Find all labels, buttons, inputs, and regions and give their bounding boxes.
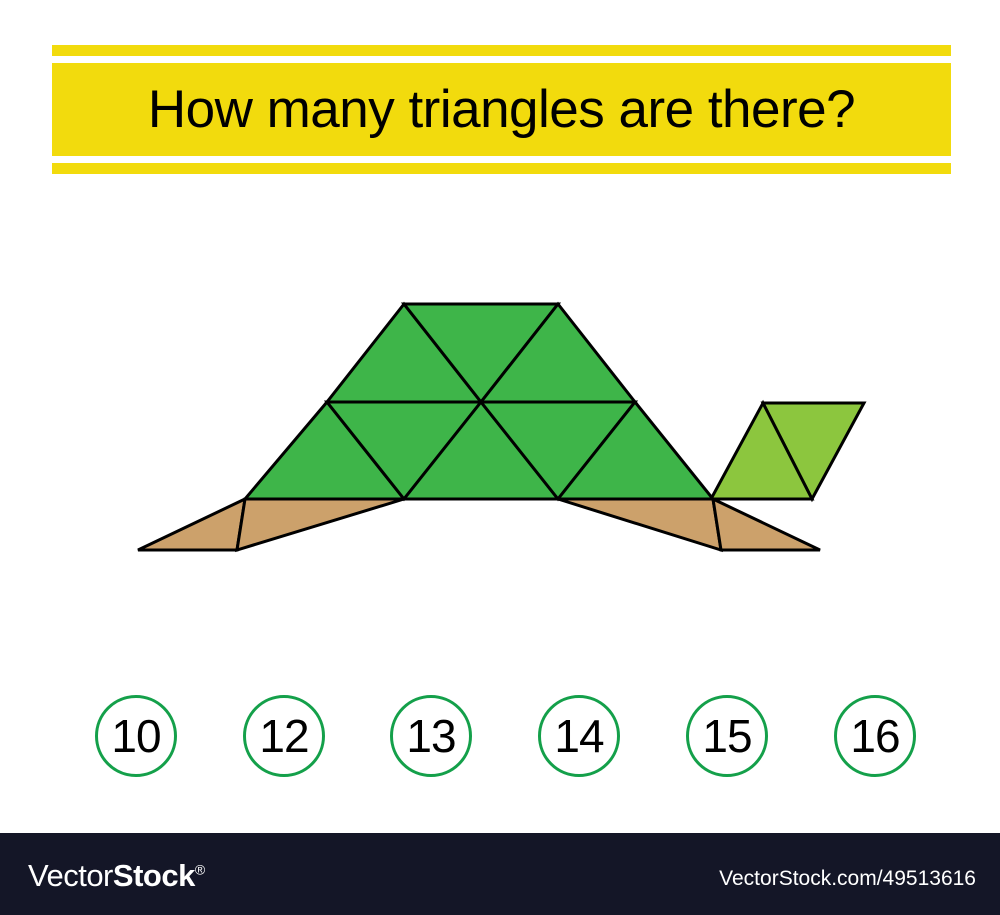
turtle-diagram-svg — [0, 230, 1000, 650]
logo-text-stock: Stock — [113, 858, 195, 893]
turtle-figure — [0, 230, 1000, 650]
banner-main-bar: How many triangles are there? — [52, 63, 951, 156]
right-flipper-inner-triangle — [558, 499, 721, 550]
answer-option-label: 16 — [850, 713, 899, 759]
watermark-url: VectorStock.com/49513616 — [719, 867, 976, 891]
page-title: How many triangles are there? — [148, 83, 855, 136]
registered-trademark-icon: ® — [195, 862, 205, 878]
answer-option-14[interactable]: 14 — [538, 695, 620, 777]
left-flipper-inner-triangle — [237, 499, 404, 550]
logo-text-vector: Vector — [28, 858, 113, 893]
question-banner: How many triangles are there? — [0, 0, 1000, 185]
answer-option-label: 13 — [406, 713, 455, 759]
right-flipper-outer-triangle — [713, 499, 820, 550]
left-flipper-outer-triangle — [138, 499, 245, 550]
answer-option-label: 12 — [259, 713, 308, 759]
banner-stripe-bottom — [52, 163, 951, 174]
answer-option-13[interactable]: 13 — [390, 695, 472, 777]
answer-option-label: 14 — [554, 713, 603, 759]
answer-options-row: 10 12 13 14 15 16 — [0, 695, 1000, 780]
answer-option-15[interactable]: 15 — [686, 695, 768, 777]
answer-option-10[interactable]: 10 — [95, 695, 177, 777]
answer-option-16[interactable]: 16 — [834, 695, 916, 777]
answer-option-label: 10 — [111, 713, 160, 759]
answer-option-label: 15 — [702, 713, 751, 759]
vectorstock-logo: VectorStock® — [28, 858, 205, 894]
banner-stripe-top — [52, 45, 951, 56]
answer-option-12[interactable]: 12 — [243, 695, 325, 777]
watermark-bar: VectorStock® VectorStock.com/49513616 — [0, 833, 1000, 915]
